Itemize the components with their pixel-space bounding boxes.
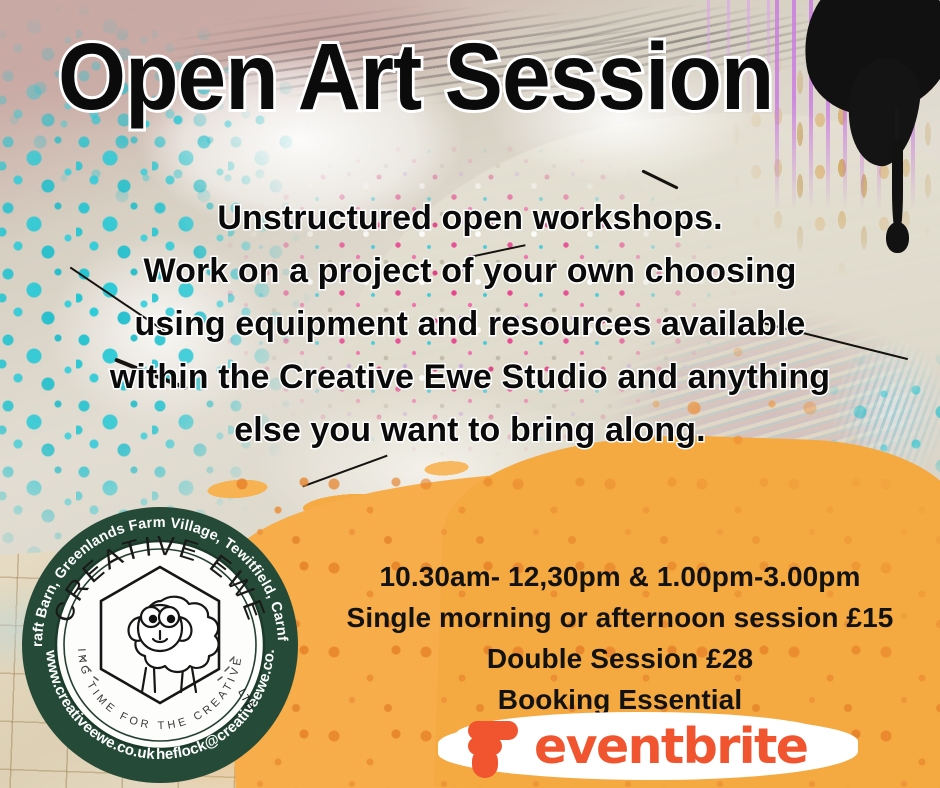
eventbrite-booking-logo[interactable]: eventbrite bbox=[438, 712, 858, 786]
double-session-price: Double Session £28 bbox=[310, 638, 930, 679]
eventbrite-icon-svg bbox=[460, 720, 526, 780]
description-line: Unstructured open workshops. bbox=[0, 192, 940, 245]
description-line: using equipment and resources available bbox=[0, 298, 940, 351]
creative-ewe-logo: Unit 3, The Craft Barn, Greenlands Farm … bbox=[20, 505, 300, 785]
description-line: else you want to bring along. bbox=[0, 404, 940, 457]
session-info-block: 10.30am- 12,30pm & 1.00pm-3.00pm Single … bbox=[310, 556, 930, 720]
eventbrite-wordmark: eventbrite bbox=[534, 719, 807, 775]
page-title: Open Art Session bbox=[58, 30, 773, 125]
description-line: Work on a project of your own choosing bbox=[0, 245, 940, 298]
creative-ewe-logo-svg: Unit 3, The Craft Barn, Greenlands Farm … bbox=[20, 505, 300, 785]
eventbrite-icon bbox=[460, 720, 526, 785]
session-times: 10.30am- 12,30pm & 1.00pm-3.00pm bbox=[310, 556, 930, 597]
poster-canvas: Open Art Session Unstructured open works… bbox=[0, 0, 940, 788]
description-line: within the Creative Ewe Studio and anyth… bbox=[0, 351, 940, 404]
single-session-price: Single morning or afternoon session £15 bbox=[310, 597, 930, 638]
description-block: Unstructured open workshops. Work on a p… bbox=[0, 192, 940, 457]
